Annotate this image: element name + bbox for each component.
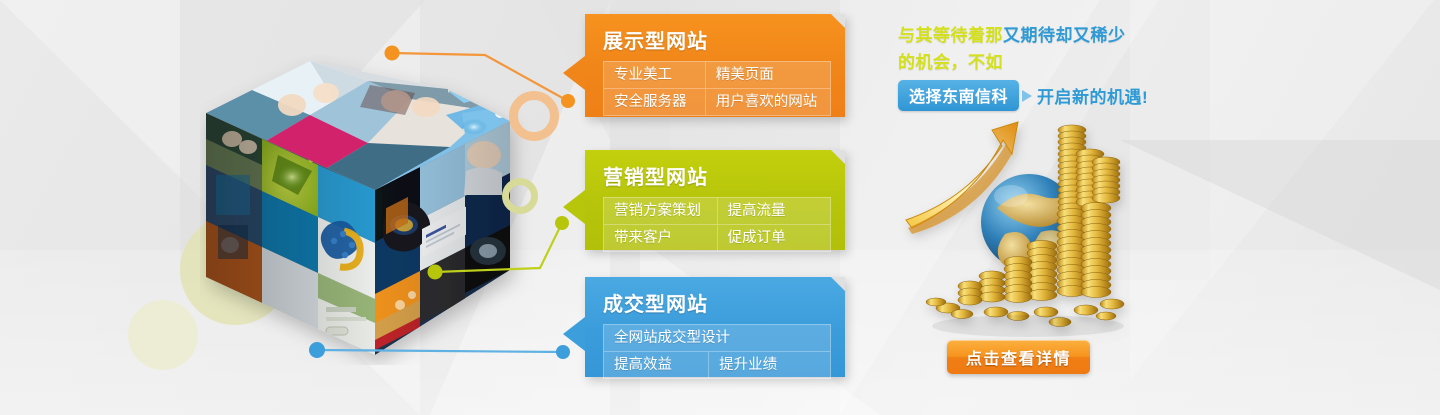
orange-ring-decoration [509, 91, 559, 141]
panel-title: 营销型网站 [585, 150, 845, 197]
panel-deal-website[interactable]: 成交型网站 全网站成交型设计 提高效益 提升业绩 [585, 277, 845, 377]
olive-ring-decoration [502, 178, 538, 214]
panel-display-website[interactable]: 展示型网站 专业美工 精美页面 安全服务器 用户喜欢的网站 [585, 14, 845, 117]
headline-line-1: 与其等待着那又期待却又稀少 [898, 22, 1168, 49]
headline-block: 与其等待着那又期待却又稀少 的机会，不如 选择东南信科 开启新的机遇! [898, 22, 1168, 111]
panel-title: 展示型网站 [585, 14, 845, 61]
panel-pointer [563, 56, 585, 90]
feature-cell: 促成订单 [718, 225, 832, 252]
feature-cell: 营销方案策划 [603, 197, 718, 225]
headline-line-2: 的机会，不如 [898, 49, 1168, 76]
banner-stage: 展示型网站 专业美工 精美页面 安全服务器 用户喜欢的网站 营销型网站 营销方案… [0, 0, 1440, 415]
panel-marketing-website[interactable]: 营销型网站 营销方案策划 提高流量 带来客户 促成订单 [585, 150, 845, 250]
feature-cell: 精美页面 [706, 61, 831, 89]
panel-corner-notch [831, 150, 845, 164]
panel-feature-rows: 专业美工 精美页面 安全服务器 用户喜欢的网站 [603, 61, 831, 116]
panel-title: 成交型网站 [585, 277, 845, 324]
panel-pointer [563, 190, 585, 224]
feature-cell: 带来客户 [603, 225, 718, 252]
globe-coins-illustration [900, 100, 1150, 345]
view-details-button[interactable]: 点击查看详情 [947, 340, 1090, 374]
panel-feature-rows: 营销方案策划 提高流量 带来客户 促成订单 [603, 197, 831, 252]
feature-cell: 专业美工 [603, 61, 706, 89]
panel-corner-notch [831, 277, 845, 291]
panel-corner-notch [831, 14, 845, 28]
feature-cell: 全网站成交型设计 [603, 324, 831, 352]
feature-cell: 提高效益 [603, 352, 709, 379]
headline-yellow-text: 与其等待着那 [898, 26, 1003, 45]
feature-cell: 安全服务器 [603, 89, 706, 116]
headline-blue-text: 又期待却又稀少 [1003, 26, 1126, 45]
panel-feature-rows: 全网站成交型设计 提高效益 提升业绩 [603, 324, 831, 379]
feature-cell: 提升业绩 [709, 352, 831, 379]
panel-pointer [563, 317, 585, 351]
feature-cell: 提高流量 [718, 197, 832, 225]
feature-cell: 用户喜欢的网站 [706, 89, 831, 116]
